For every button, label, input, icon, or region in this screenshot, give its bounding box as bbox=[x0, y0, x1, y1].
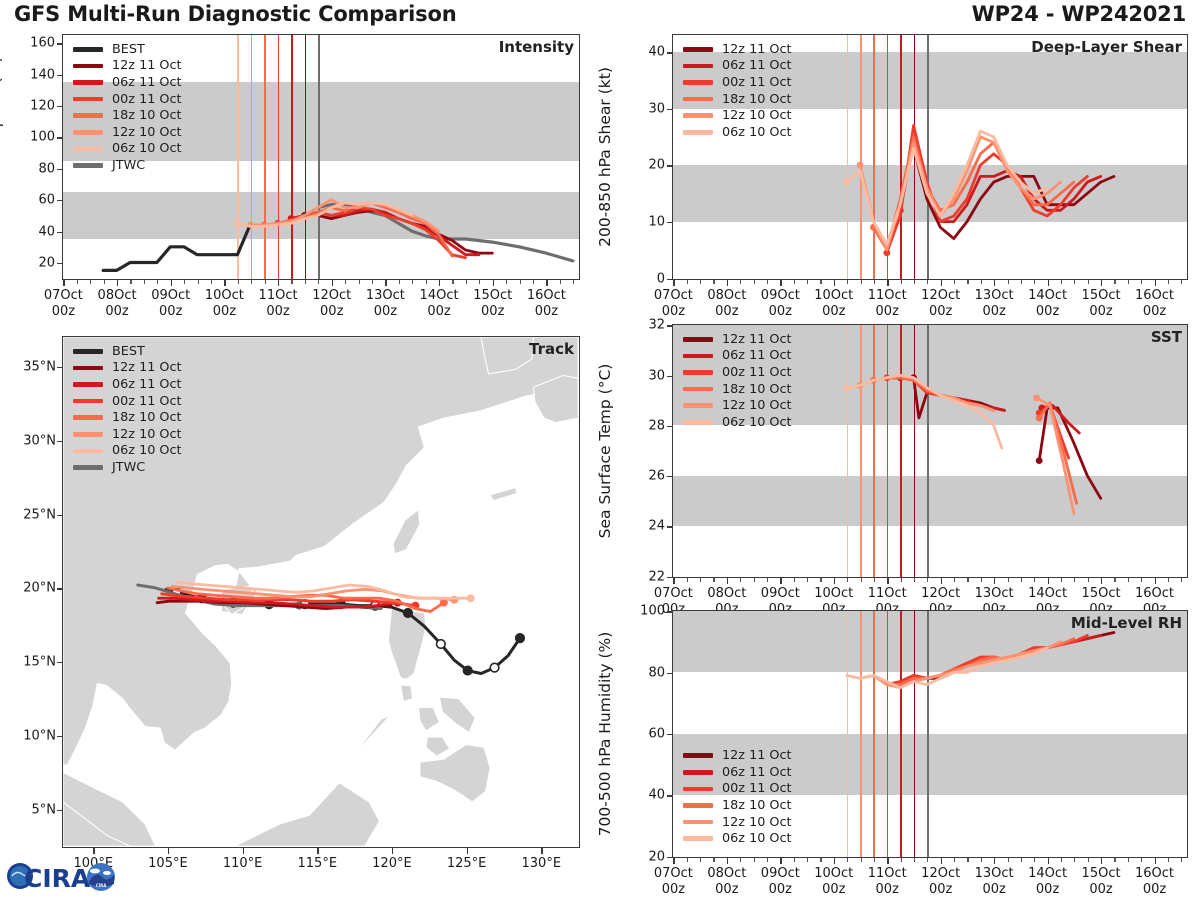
xtick-minor-rh-9-3 bbox=[820, 858, 821, 862]
xtick-hour: 00z bbox=[205, 304, 244, 320]
legend-label-track-3: 00z 11 Oct bbox=[112, 394, 182, 409]
xtick-day: 15Oct bbox=[1082, 586, 1121, 602]
xtick-day: 09Oct bbox=[151, 288, 190, 304]
init-point-shear-5 bbox=[843, 179, 850, 186]
xtick-label-intensity-7: 14Oct00z bbox=[420, 288, 459, 319]
xtick-major-intensity-15 bbox=[493, 280, 494, 286]
xtick-minor-intensity-15-2 bbox=[520, 280, 521, 284]
xtick-major-shear-7 bbox=[673, 280, 674, 286]
xtick-minor-intensity-14-2 bbox=[466, 280, 467, 284]
xtick-label-intensity-3: 10Oct00z bbox=[205, 288, 244, 319]
legend-swatch-rh-0 bbox=[683, 753, 713, 758]
land-okinawa bbox=[490, 488, 517, 501]
legend-item-track-7[interactable]: JTWC bbox=[73, 459, 182, 476]
xtick-hour: 00z bbox=[1135, 304, 1174, 320]
map-xtick-0 bbox=[93, 848, 94, 854]
xtick-day: 10Oct bbox=[814, 288, 853, 304]
xtick-minor-rh-13-2 bbox=[1021, 858, 1022, 862]
legend-label-track-1: 12z 11 Oct bbox=[112, 360, 182, 375]
track-marker-best-8 bbox=[404, 609, 413, 618]
ytick-intensity-2 bbox=[57, 200, 62, 201]
xtick-label-rh-8: 15Oct00z bbox=[1082, 866, 1121, 897]
legend-item-shear-5[interactable]: 06z 10 Oct bbox=[683, 124, 792, 141]
xtick-minor-sst-14-3 bbox=[1088, 578, 1089, 582]
xtick-minor-rh-7-1 bbox=[687, 858, 688, 862]
series-line-sst-10 bbox=[847, 375, 1002, 448]
xtick-minor-sst-9-1 bbox=[794, 578, 795, 582]
ylabel-shear-0: 0 bbox=[620, 271, 665, 286]
map-ytick-1 bbox=[57, 736, 62, 737]
xtick-minor-rh-12-3 bbox=[981, 858, 982, 862]
map-xtick-1 bbox=[168, 848, 169, 854]
xtick-label-rh-4: 11Oct00z bbox=[868, 866, 907, 897]
xtick-day: 12Oct bbox=[921, 288, 960, 304]
xtick-day: 15Oct bbox=[473, 288, 512, 304]
xtick-minor-intensity-13-1 bbox=[399, 280, 400, 284]
xtick-major-intensity-16 bbox=[546, 280, 547, 286]
xtick-label-rh-6: 13Oct00z bbox=[975, 866, 1014, 897]
xtick-major-intensity-14 bbox=[439, 280, 440, 286]
xtick-hour: 00z bbox=[975, 882, 1014, 898]
xtick-major-shear-13 bbox=[994, 280, 995, 286]
legend-swatch-rh-1 bbox=[683, 770, 713, 775]
xtick-minor-rh-14-3 bbox=[1088, 858, 1089, 862]
xtick-hour: 00z bbox=[921, 304, 960, 320]
xtick-label-shear-0: 07Oct00z bbox=[654, 288, 693, 319]
xtick-hour: 00z bbox=[1028, 882, 1067, 898]
legend-swatch-shear-2 bbox=[683, 80, 713, 85]
xtick-day: 11Oct bbox=[868, 866, 907, 882]
ylabel-intensity-6: 140 bbox=[10, 67, 55, 82]
ytick-sst-3 bbox=[667, 426, 672, 427]
legend-item-rh-5[interactable]: 06z 10 Oct bbox=[683, 830, 792, 847]
map-ylabel-0: 5°N bbox=[4, 802, 56, 817]
xtick-hour: 00z bbox=[761, 304, 800, 320]
xtick-label-shear-8: 15Oct00z bbox=[1082, 288, 1121, 319]
legend-item-shear-2[interactable]: 00z 11 Oct bbox=[683, 74, 792, 91]
xtick-minor-intensity-15-3 bbox=[533, 280, 534, 284]
xtick-minor-sst-14-2 bbox=[1074, 578, 1075, 582]
xtick-major-sst-14 bbox=[1048, 578, 1049, 584]
legend-label-sst-4: 12z 10 Oct bbox=[722, 398, 792, 413]
xtick-day: 09Oct bbox=[761, 288, 800, 304]
xtick-hour: 00z bbox=[44, 304, 83, 320]
map-xtick-3 bbox=[317, 848, 318, 854]
xtick-day: 08Oct bbox=[707, 586, 746, 602]
xtick-minor-sst-8-3 bbox=[767, 578, 768, 582]
xtick-day: 07Oct bbox=[654, 866, 693, 882]
xtick-hour: 00z bbox=[1028, 304, 1067, 320]
xtick-minor-shear-10-2 bbox=[861, 280, 862, 284]
xtick-label-shear-7: 14Oct00z bbox=[1028, 288, 1067, 319]
xtick-minor-shear-14-3 bbox=[1088, 280, 1089, 284]
legend-item-intensity-1[interactable]: 12z 11 Oct bbox=[73, 58, 182, 75]
legend-swatch-intensity-5 bbox=[73, 130, 103, 135]
xtick-minor-rh-8-1 bbox=[740, 858, 741, 862]
xtick-minor-rh-14-2 bbox=[1074, 858, 1075, 862]
legend-item-intensity-6[interactable]: 06z 10 Oct bbox=[73, 141, 182, 158]
xtick-major-intensity-11 bbox=[278, 280, 279, 286]
xtick-minor-shear-9-3 bbox=[820, 280, 821, 284]
legend-swatch-sst-5 bbox=[683, 420, 713, 425]
map-xtick-2 bbox=[243, 848, 244, 854]
xtick-hour: 00z bbox=[1135, 882, 1174, 898]
land-palawan bbox=[347, 715, 390, 764]
xtick-major-shear-14 bbox=[1048, 280, 1049, 286]
legend-item-shear-1[interactable]: 06z 11 Oct bbox=[683, 58, 792, 75]
xtick-minor-shear-12-2 bbox=[967, 280, 968, 284]
xtick-minor-rh-10-2 bbox=[861, 858, 862, 862]
xtick-day: 11Oct bbox=[868, 586, 907, 602]
map-xtick-label-5: 125°E bbox=[447, 856, 487, 872]
legend-swatch-track-6 bbox=[73, 449, 103, 454]
ylabel-rh-3: 80 bbox=[620, 665, 665, 680]
xtick-day: 12Oct bbox=[921, 586, 960, 602]
xtick-minor-sst-9-3 bbox=[820, 578, 821, 582]
y-axis-title-shear: 200-850 hPa Shear (kt) bbox=[596, 67, 614, 247]
legend-swatch-track-5 bbox=[73, 432, 103, 437]
xtick-minor-intensity-12-1 bbox=[345, 280, 346, 284]
xtick-major-intensity-12 bbox=[332, 280, 333, 286]
legend-label-track-6: 06z 10 Oct bbox=[112, 443, 182, 458]
legend-item-sst-0[interactable]: 12z 11 Oct bbox=[683, 331, 792, 348]
legend-label-shear-0: 12z 11 Oct bbox=[722, 42, 792, 57]
legend-item-intensity-4[interactable]: 18z 10 Oct bbox=[73, 107, 182, 124]
xtick-hour: 00z bbox=[814, 882, 853, 898]
xtick-major-rh-9 bbox=[780, 858, 781, 864]
panel-intensity: IntensityBEST12z 11 Oct06z 11 Oct00z 11 … bbox=[62, 34, 580, 280]
init-point-intensity-7 bbox=[234, 220, 241, 227]
ylabel-shear-3: 30 bbox=[620, 101, 665, 116]
legend-label-intensity-4: 18z 10 Oct bbox=[112, 108, 182, 123]
map-ytick-2 bbox=[57, 662, 62, 663]
xtick-label-shear-9: 16Oct00z bbox=[1135, 288, 1174, 319]
legend-item-rh-0[interactable]: 12z 11 Oct bbox=[683, 747, 792, 764]
map-xtick-label-1: 105°E bbox=[148, 856, 188, 872]
ytick-shear-0 bbox=[667, 279, 672, 280]
xtick-minor-rh-9-1 bbox=[794, 858, 795, 862]
legend-item-track-2[interactable]: 06z 11 Oct bbox=[73, 376, 182, 393]
xtick-minor-sst-14-1 bbox=[1061, 578, 1062, 582]
series-line-shear-0 bbox=[914, 148, 1114, 239]
xtick-label-shear-6: 13Oct00z bbox=[975, 288, 1014, 319]
legend-swatch-intensity-1 bbox=[73, 64, 103, 69]
xtick-minor-intensity-7-1 bbox=[77, 280, 78, 284]
page-title: GFS Multi-Run Diagnostic Comparison bbox=[14, 2, 456, 26]
xtick-hour: 00z bbox=[707, 304, 746, 320]
xtick-day: 11Oct bbox=[868, 288, 907, 304]
legend-item-track-4[interactable]: 18z 10 Oct bbox=[73, 409, 182, 426]
xtick-major-sst-7 bbox=[673, 578, 674, 584]
xtick-label-rh-7: 14Oct00z bbox=[1028, 866, 1067, 897]
xtick-minor-shear-7-2 bbox=[700, 280, 701, 284]
xtick-minor-sst-10-3 bbox=[874, 578, 875, 582]
panel-rh: Mid-Level RH12z 11 Oct06z 11 Oct00z 11 O… bbox=[672, 610, 1188, 858]
ylabel-rh-4: 100 bbox=[620, 604, 665, 619]
xtick-minor-intensity-9-3 bbox=[211, 280, 212, 284]
xtick-major-shear-15 bbox=[1101, 280, 1102, 286]
legend-swatch-intensity-7 bbox=[73, 163, 103, 168]
legend-item-rh-3[interactable]: 18z 10 Oct bbox=[683, 797, 792, 814]
ylabel-rh-2: 60 bbox=[620, 727, 665, 742]
xtick-hour: 00z bbox=[1082, 882, 1121, 898]
xtick-minor-rh-12-1 bbox=[954, 858, 955, 862]
xtick-minor-shear-7-3 bbox=[713, 280, 714, 284]
map-ytick-6 bbox=[57, 367, 62, 368]
xtick-minor-intensity-8-3 bbox=[157, 280, 158, 284]
panel-title-sst: SST bbox=[1151, 328, 1182, 346]
legend-label-sst-2: 00z 11 Oct bbox=[722, 365, 792, 380]
xtick-minor-shear-7-1 bbox=[687, 280, 688, 284]
xtick-major-intensity-13 bbox=[385, 280, 386, 286]
xtick-hour: 00z bbox=[868, 304, 907, 320]
xtick-major-intensity-9 bbox=[171, 280, 172, 286]
xtick-minor-sst-12-2 bbox=[967, 578, 968, 582]
legend-item-shear-0[interactable]: 12z 11 Oct bbox=[683, 41, 792, 58]
xtick-hour: 00z bbox=[473, 304, 512, 320]
ytick-sst-5 bbox=[667, 325, 672, 326]
xtick-minor-intensity-9-2 bbox=[198, 280, 199, 284]
ylabel-intensity-1: 40 bbox=[10, 224, 55, 239]
legend-label-rh-4: 12z 10 Oct bbox=[722, 815, 792, 830]
legend-item-rh-4[interactable]: 12z 10 Oct bbox=[683, 814, 792, 831]
ytick-intensity-1 bbox=[57, 232, 62, 233]
panel-track: TrackBEST12z 11 Oct06z 11 Oct00z 11 Oct1… bbox=[62, 336, 580, 848]
xtick-day: 11Oct bbox=[259, 288, 298, 304]
xtick-minor-shear-11-3 bbox=[927, 280, 928, 284]
legend-item-intensity-0[interactable]: BEST bbox=[73, 41, 182, 58]
xtick-day: 14Oct bbox=[1028, 288, 1067, 304]
xtick-major-shear-11 bbox=[887, 280, 888, 286]
ytick-shear-4 bbox=[667, 52, 672, 53]
ytick-sst-0 bbox=[667, 577, 672, 578]
legend-item-shear-4[interactable]: 12z 10 Oct bbox=[683, 107, 792, 124]
xtick-minor-intensity-7-2 bbox=[90, 280, 91, 284]
xtick-hour: 00z bbox=[98, 304, 137, 320]
legend-label-rh-5: 06z 10 Oct bbox=[722, 831, 792, 846]
xtick-minor-sst-15-3 bbox=[1141, 578, 1142, 582]
xtick-minor-rh-16-1 bbox=[1168, 858, 1169, 862]
xtick-minor-rh-7-2 bbox=[700, 858, 701, 862]
legend-label-shear-5: 06z 10 Oct bbox=[722, 125, 792, 140]
xtick-minor-rh-13-3 bbox=[1034, 858, 1035, 862]
land-mindanao bbox=[420, 744, 490, 802]
map-xtick-4 bbox=[392, 848, 393, 854]
xtick-minor-rh-8-3 bbox=[767, 858, 768, 862]
legend-item-track-5[interactable]: 12z 10 Oct bbox=[73, 426, 182, 443]
xtick-minor-shear-10-3 bbox=[874, 280, 875, 284]
panel-title-track: Track bbox=[529, 340, 574, 358]
legend-item-intensity-2[interactable]: 06z 11 Oct bbox=[73, 74, 182, 91]
map-ylabel-2: 15°N bbox=[4, 655, 56, 670]
xtick-minor-rh-15-3 bbox=[1141, 858, 1142, 862]
xtick-hour: 00z bbox=[527, 304, 566, 320]
xtick-hour: 00z bbox=[420, 304, 459, 320]
xtick-label-shear-2: 09Oct00z bbox=[761, 288, 800, 319]
map-xtick-label-6: 130°E bbox=[522, 856, 562, 872]
xtick-minor-intensity-11-1 bbox=[291, 280, 292, 284]
ylabel-sst-1: 24 bbox=[620, 519, 665, 534]
panel-sst: SST12z 11 Oct06z 11 Oct00z 11 Oct18z 10 … bbox=[672, 324, 1188, 578]
series-line-intensity-0 bbox=[103, 223, 251, 270]
xtick-hour: 00z bbox=[707, 882, 746, 898]
xtick-major-rh-13 bbox=[994, 858, 995, 864]
xtick-minor-intensity-13-3 bbox=[426, 280, 427, 284]
storm-identifier: WP24 - WP242021 bbox=[972, 2, 1186, 26]
xtick-day: 16Oct bbox=[1135, 586, 1174, 602]
legend-item-track-0[interactable]: BEST bbox=[73, 343, 182, 360]
ylabel-shear-4: 40 bbox=[620, 45, 665, 60]
map-xtick-label-2: 110°E bbox=[223, 856, 263, 872]
legend-shear: 12z 11 Oct06z 11 Oct00z 11 Oct18z 10 Oct… bbox=[683, 41, 792, 141]
legend-item-sst-1[interactable]: 06z 11 Oct bbox=[683, 348, 792, 365]
land-negros bbox=[426, 737, 450, 756]
xtick-minor-sst-8-1 bbox=[740, 578, 741, 582]
ytick-intensity-4 bbox=[57, 137, 62, 138]
legend-label-intensity-2: 06z 11 Oct bbox=[112, 75, 182, 90]
land-mindoro bbox=[401, 685, 413, 701]
init-point-sst-10 bbox=[843, 384, 850, 391]
xtick-minor-intensity-11-3 bbox=[318, 280, 319, 284]
ylabel-shear-2: 20 bbox=[620, 158, 665, 173]
init-point-sst-9 bbox=[1033, 394, 1040, 401]
xtick-day: 16Oct bbox=[527, 288, 566, 304]
xtick-major-intensity-7 bbox=[63, 280, 64, 286]
series-line-sst-1 bbox=[1039, 408, 1101, 498]
xtick-minor-sst-15-2 bbox=[1128, 578, 1129, 582]
ytick-sst-2 bbox=[667, 476, 672, 477]
legend-swatch-intensity-0 bbox=[73, 47, 103, 52]
legend-swatch-sst-4 bbox=[683, 403, 713, 408]
y-axis-title-sst: Sea Surface Temp (°C) bbox=[596, 364, 614, 539]
ylabel-sst-3: 28 bbox=[620, 418, 665, 433]
legend-label-shear-4: 12z 10 Oct bbox=[722, 108, 792, 123]
land-luzon bbox=[389, 609, 426, 680]
legend-item-track-3[interactable]: 00z 11 Oct bbox=[73, 393, 182, 410]
xtick-minor-shear-10-1 bbox=[847, 280, 848, 284]
xtick-minor-shear-8-3 bbox=[767, 280, 768, 284]
xtick-minor-shear-8-1 bbox=[740, 280, 741, 284]
legend-label-sst-0: 12z 11 Oct bbox=[722, 332, 792, 347]
legend-item-sst-3[interactable]: 18z 10 Oct bbox=[683, 381, 792, 398]
xtick-minor-rh-11-1 bbox=[901, 858, 902, 862]
xtick-minor-sst-13-2 bbox=[1021, 578, 1022, 582]
legend-item-sst-2[interactable]: 00z 11 Oct bbox=[683, 364, 792, 381]
map-ylabel-3: 20°N bbox=[4, 581, 56, 596]
ylabel-intensity-7: 160 bbox=[10, 36, 55, 51]
legend-item-shear-3[interactable]: 18z 10 Oct bbox=[683, 91, 792, 108]
xtick-minor-rh-10-1 bbox=[847, 858, 848, 862]
track-marker-best-4 bbox=[463, 666, 472, 675]
ytick-shear-3 bbox=[667, 109, 672, 110]
xtick-major-rh-14 bbox=[1048, 858, 1049, 864]
land-panay bbox=[418, 708, 439, 732]
xtick-minor-intensity-16-1 bbox=[560, 280, 561, 284]
xtick-day: 15Oct bbox=[1082, 866, 1121, 882]
ytick-rh-3 bbox=[667, 673, 672, 674]
map-ytick-0 bbox=[57, 810, 62, 811]
legend-item-sst-4[interactable]: 12z 10 Oct bbox=[683, 397, 792, 414]
legend-item-rh-1[interactable]: 06z 11 Oct bbox=[683, 764, 792, 781]
xtick-hour: 00z bbox=[259, 304, 298, 320]
land-samar-leyte bbox=[439, 697, 475, 733]
xtick-label-intensity-8: 15Oct00z bbox=[473, 288, 512, 319]
ylabel-sst-4: 30 bbox=[620, 368, 665, 383]
ylabel-rh-0: 20 bbox=[620, 849, 665, 864]
xtick-day: 09Oct bbox=[761, 866, 800, 882]
xtick-day: 10Oct bbox=[205, 288, 244, 304]
ylabel-intensity-0: 20 bbox=[10, 255, 55, 270]
svg-text:CIRA: CIRA bbox=[96, 883, 108, 888]
xtick-hour: 00z bbox=[761, 882, 800, 898]
legend-item-track-6[interactable]: 06z 10 Oct bbox=[73, 443, 182, 460]
legend-rh: 12z 11 Oct06z 11 Oct00z 11 Oct18z 10 Oct… bbox=[683, 747, 792, 847]
xtick-label-rh-0: 07Oct00z bbox=[654, 866, 693, 897]
land-borneo bbox=[235, 783, 380, 846]
xtick-major-rh-15 bbox=[1101, 858, 1102, 864]
xtick-minor-intensity-9-1 bbox=[184, 280, 185, 284]
legend-swatch-sst-3 bbox=[683, 387, 713, 392]
legend-swatch-sst-0 bbox=[683, 337, 713, 342]
legend-swatch-rh-3 bbox=[683, 803, 713, 808]
ytick-sst-4 bbox=[667, 376, 672, 377]
legend-item-intensity-7[interactable]: JTWC bbox=[73, 157, 182, 174]
xtick-minor-rh-12-2 bbox=[967, 858, 968, 862]
xtick-day: 08Oct bbox=[707, 866, 746, 882]
legend-item-intensity-3[interactable]: 00z 11 Oct bbox=[73, 91, 182, 108]
legend-item-rh-2[interactable]: 00z 11 Oct bbox=[683, 781, 792, 798]
xtick-major-shear-12 bbox=[941, 280, 942, 286]
map-xtick-6 bbox=[541, 848, 542, 854]
xtick-minor-rh-11-2 bbox=[914, 858, 915, 862]
xtick-minor-intensity-12-3 bbox=[372, 280, 373, 284]
legend-label-shear-3: 18z 10 Oct bbox=[722, 92, 792, 107]
ylabel-shear-1: 10 bbox=[620, 215, 665, 230]
legend-label-rh-2: 00z 11 Oct bbox=[722, 781, 792, 796]
xtick-minor-sst-16-1 bbox=[1168, 578, 1169, 582]
ytick-intensity-6 bbox=[57, 75, 62, 76]
xtick-hour: 00z bbox=[366, 304, 405, 320]
xtick-minor-intensity-7-3 bbox=[104, 280, 105, 284]
xtick-minor-shear-14-2 bbox=[1074, 280, 1075, 284]
xtick-major-rh-7 bbox=[673, 858, 674, 864]
track-init-marker-7 bbox=[467, 594, 475, 602]
xtick-day: 16Oct bbox=[1135, 288, 1174, 304]
ytick-rh-0 bbox=[667, 857, 672, 858]
legend-label-track-5: 12z 10 Oct bbox=[112, 427, 182, 442]
ylabel-sst-0: 22 bbox=[620, 569, 665, 584]
xtick-major-sst-11 bbox=[887, 578, 888, 584]
xtick-minor-intensity-14-1 bbox=[452, 280, 453, 284]
track-marker-best-2 bbox=[490, 663, 499, 672]
legend-swatch-track-0 bbox=[73, 349, 103, 354]
xtick-major-rh-11 bbox=[887, 858, 888, 864]
xtick-major-intensity-10 bbox=[224, 280, 225, 286]
xtick-day: 13Oct bbox=[975, 866, 1014, 882]
ytick-shear-1 bbox=[667, 222, 672, 223]
series-line-shear-5 bbox=[847, 131, 1047, 244]
legend-item-sst-5[interactable]: 06z 10 Oct bbox=[683, 414, 792, 431]
xtick-label-intensity-5: 12Oct00z bbox=[312, 288, 351, 319]
xtick-major-sst-13 bbox=[994, 578, 995, 584]
legend-label-rh-3: 18z 10 Oct bbox=[722, 798, 792, 813]
legend-item-track-1[interactable]: 12z 11 Oct bbox=[73, 360, 182, 377]
xtick-minor-shear-13-1 bbox=[1008, 280, 1009, 284]
xtick-minor-rh-10-3 bbox=[874, 858, 875, 862]
xtick-day: 13Oct bbox=[975, 288, 1014, 304]
xtick-hour: 00z bbox=[814, 304, 853, 320]
legend-item-intensity-5[interactable]: 12z 10 Oct bbox=[73, 124, 182, 141]
